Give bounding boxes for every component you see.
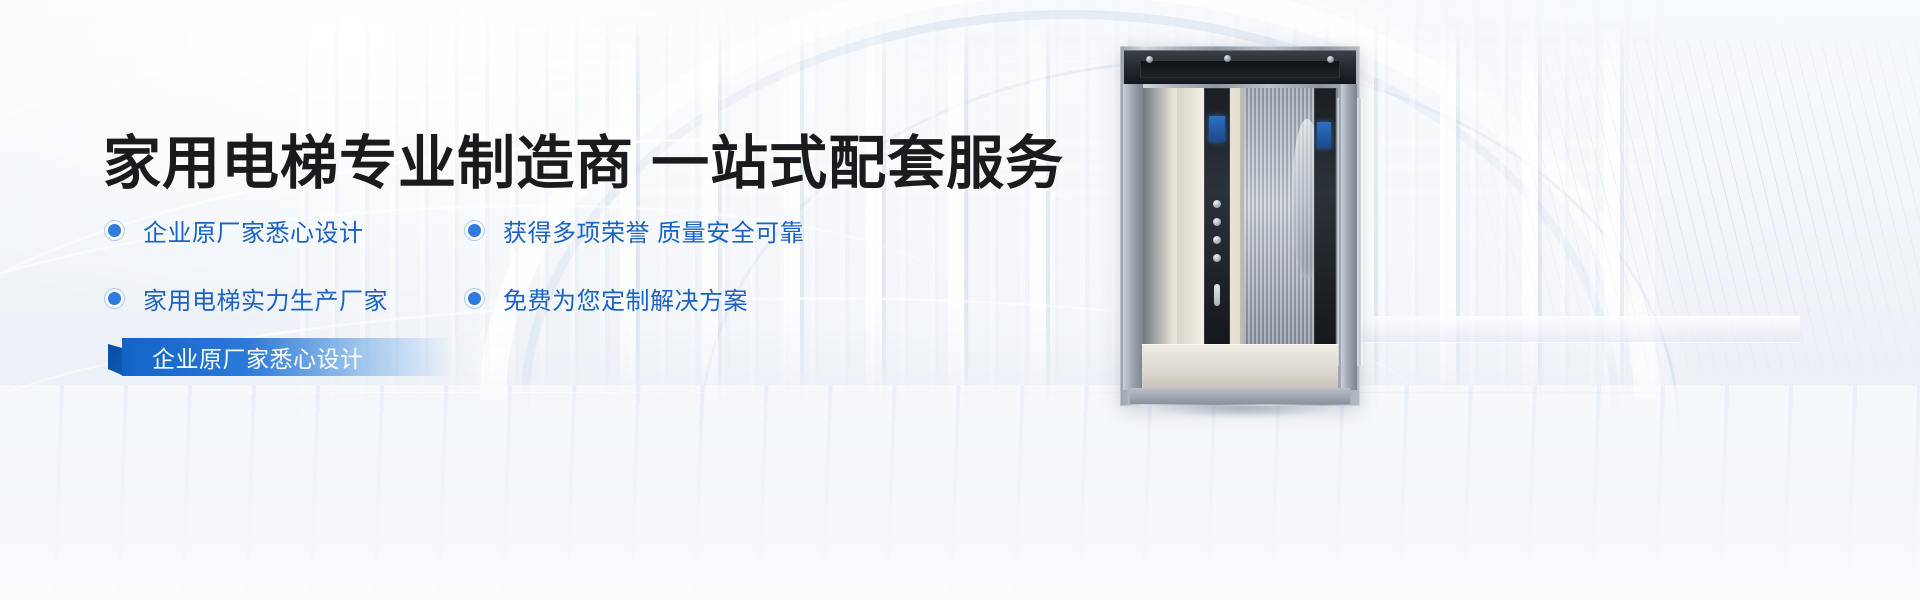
elevator-floor-display-secondary: [1317, 122, 1331, 148]
elevator-control-panel-left: [1204, 88, 1230, 346]
tag-ribbon-fold: [108, 344, 124, 376]
feature-item-1: 企业原厂家悉心设计: [108, 213, 468, 248]
feature-item-label: 家用电梯实力生产厂家: [143, 281, 388, 316]
elevator-ceiling-light: [1140, 60, 1340, 78]
tag-label: 企业原厂家悉心设计: [122, 338, 452, 376]
elevator-control-panel-right: [1314, 88, 1336, 346]
page-title: 家用电梯专业制造商 一站式配套服务: [103, 116, 1064, 200]
bullet-dot-icon: [108, 292, 121, 305]
elevator-door-sill: [1130, 388, 1350, 404]
elevator-button-3: [1213, 236, 1221, 244]
banner-copy-block: 家用电梯专业制造商 一站式配套服务 企业原厂家悉心设计 获得多项荣誉 质量安全可…: [0, 0, 1100, 600]
bullet-dot-icon: [468, 292, 481, 305]
feature-list: 企业原厂家悉心设计 获得多项荣誉 质量安全可靠 家用电梯实力生产厂家 免费为您定…: [108, 213, 888, 316]
feature-item-2: 获得多项荣誉 质量安全可靠: [468, 213, 828, 248]
elevator-pillar-left: [1123, 84, 1143, 390]
feature-item-label: 企业原厂家悉心设计: [143, 213, 364, 248]
highlight-tag: 企业原厂家悉心设计: [108, 338, 468, 376]
elevator-indicator-led: [1214, 284, 1220, 306]
elevator-pillar-right: [1341, 84, 1357, 390]
elevator-button-1: [1213, 200, 1221, 208]
elevator-screw-icon: [1146, 56, 1153, 63]
home-elevator-cabin-image: [1120, 46, 1360, 406]
elevator-cabin-floor: [1142, 344, 1338, 390]
feature-item-4: 免费为您定制解决方案: [468, 281, 828, 316]
elevator-screw-icon: [1224, 55, 1231, 62]
bullet-dot-icon: [468, 224, 481, 237]
hero-banner: 家用电梯专业制造商 一站式配套服务 企业原厂家悉心设计 获得多项荣誉 质量安全可…: [0, 0, 1920, 600]
elevator-interior: [1142, 88, 1338, 346]
elevator-floor-display: [1209, 116, 1225, 142]
elevator-screw-icon: [1327, 56, 1334, 63]
bullet-dot-icon: [108, 224, 121, 237]
elevator-button-4: [1213, 254, 1221, 262]
feature-item-3: 家用电梯实力生产厂家: [108, 281, 468, 316]
feature-item-label: 免费为您定制解决方案: [503, 281, 748, 316]
elevator-top-canopy: [1124, 50, 1356, 84]
feature-item-label: 获得多项荣誉 质量安全可靠: [503, 213, 804, 248]
elevator-button-2: [1213, 218, 1221, 226]
